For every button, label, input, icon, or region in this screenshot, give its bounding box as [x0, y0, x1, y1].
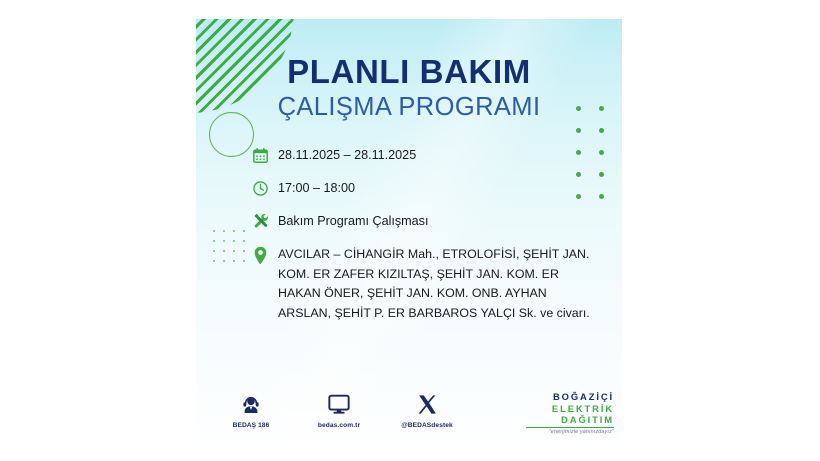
- contact-phone[interactable]: BEDAŞ 186: [218, 389, 284, 429]
- page-title: PLANLI BAKIM: [196, 55, 622, 90]
- info-row-date: 28.11.2025 – 28.11.2025: [252, 144, 602, 166]
- brand-tagline: "enerjimizle yanınızdayız": [522, 429, 614, 435]
- maintenance-notice-card: PLANLI BAKIM ÇALIŞMA PROGRAMI: [196, 19, 622, 440]
- poster-footer: BEDAŞ 186 bedas.com.tr: [196, 389, 622, 440]
- location-pin-icon: [252, 243, 278, 266]
- date-range-text: 28.11.2025 – 28.11.2025: [278, 144, 416, 164]
- time-range-text: 17:00 – 18:00: [278, 177, 355, 197]
- info-row-work-type: Bakım Programı Çalışması: [252, 210, 602, 232]
- contact-phone-label: BEDAŞ 186: [218, 422, 284, 429]
- contact-x-account[interactable]: @BEDASdestek: [394, 389, 460, 429]
- contact-x-label: @BEDASdestek: [394, 422, 460, 429]
- brand-divider: [526, 427, 614, 428]
- clock-icon: [252, 177, 278, 199]
- poster-heading: PLANLI BAKIM ÇALIŞMA PROGRAMI: [196, 55, 622, 121]
- contact-website-label: bedas.com.tr: [306, 422, 372, 429]
- screenshot-root: PLANLI BAKIM ÇALIŞMA PROGRAMI: [0, 0, 820, 461]
- info-row-address: AVCILAR – CİHANGİR Mah., ETROLOFİSİ, ŞEH…: [252, 243, 602, 323]
- work-type-text: Bakım Programı Çalışması: [278, 210, 428, 230]
- address-text: AVCILAR – CİHANGİR Mah., ETROLOFİSİ, ŞEH…: [278, 243, 602, 323]
- x-twitter-icon: [394, 389, 460, 419]
- dot-grid-left-decoration: [209, 226, 249, 266]
- contact-list: BEDAŞ 186 bedas.com.tr: [218, 389, 460, 429]
- info-row-time: 17:00 – 18:00: [252, 177, 602, 199]
- contact-website[interactable]: bedas.com.tr: [306, 389, 372, 429]
- monitor-icon: [306, 389, 372, 419]
- calendar-icon: [252, 144, 278, 166]
- support-agent-icon: [218, 389, 284, 419]
- brand-line-1: BOĞAZİÇİ: [522, 391, 614, 403]
- brand-line-2: ELEKTRİK: [522, 403, 614, 415]
- tools-icon: [252, 210, 278, 232]
- info-list: 28.11.2025 – 28.11.2025 17:00 – 18:00: [252, 144, 602, 334]
- page-subtitle: ÇALIŞMA PROGRAMI: [196, 93, 622, 121]
- brand-line-3: DAĞITIM: [522, 414, 614, 426]
- bedas-logo: BOĞAZİÇİ ELEKTRİK DAĞITIM "enerjimizle y…: [522, 391, 614, 435]
